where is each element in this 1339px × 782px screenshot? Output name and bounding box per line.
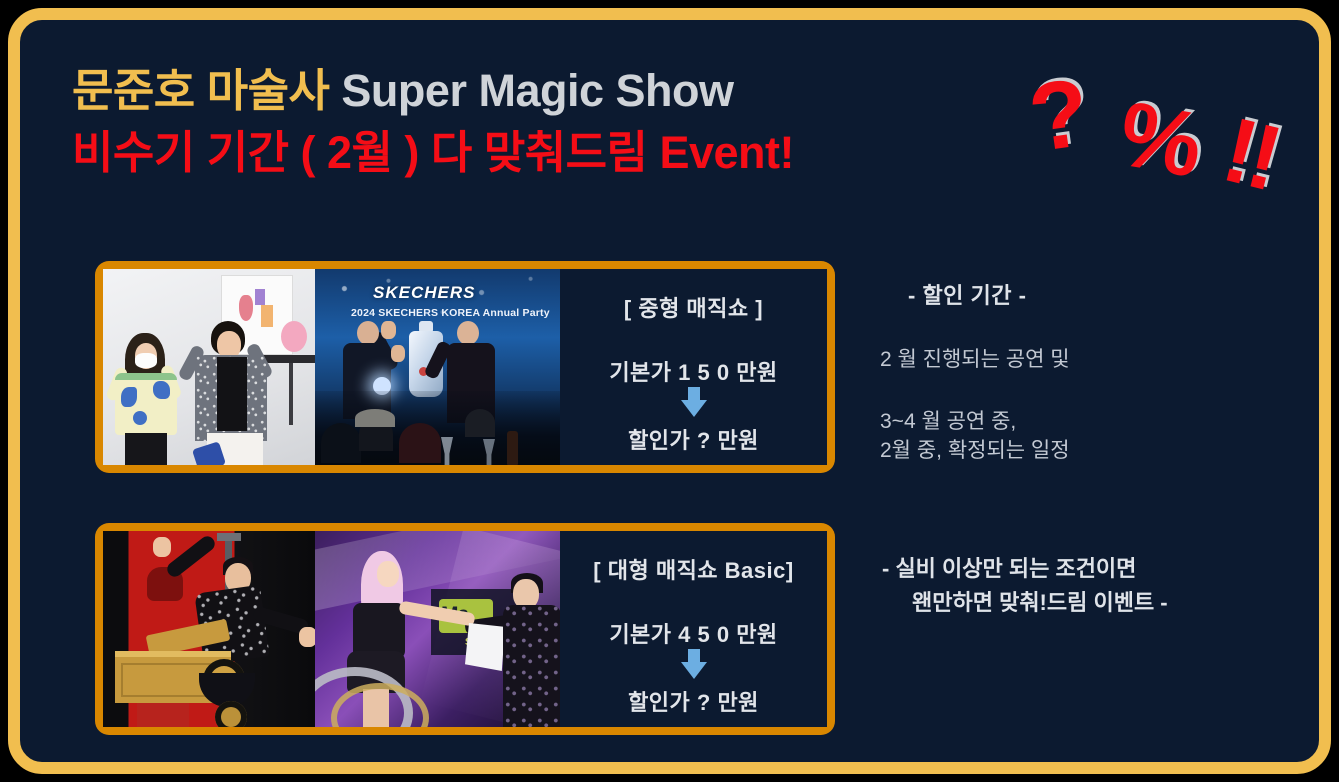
decorative-marks: ? % !! <box>1020 60 1290 215</box>
magician-with-child-studio-photo <box>103 269 315 465</box>
exclamation-marks-icon: !! <box>1215 103 1285 204</box>
purple-stage-assistant-photo: Ma SU <box>315 531 560 727</box>
original-price: 기본가 4 5 0 만원 <box>609 617 777 649</box>
discount-period-line-2: 3~4 월 공연 중, <box>880 408 1320 436</box>
title-korean-name: 문준호 마술사 <box>72 65 329 116</box>
discount-period-line-3: 2월 중, 확정되는 일정 <box>880 437 1320 465</box>
discount-period-line-1: 2 월 진행되는 공연 및 <box>880 346 1320 374</box>
skechers-banner-text: 2024 SKECHERS KOREA Annual Party <box>351 307 550 319</box>
event-condition-block: - 실비 이상만 되는 조건이면 왠만하면 맞춰!드림 이벤트 - <box>882 552 1332 620</box>
discount-period-heading: - 할인 기간 - <box>908 278 1320 310</box>
offer-card-inner: Ma SU [ 대형 매직쇼 Basic] 기본가 4 5 0 만원 할인가 <box>103 531 827 727</box>
question-mark-icon: ? <box>1024 64 1095 167</box>
discount-period-block: - 할인 기간 - 2 월 진행되는 공연 및 3~4 월 공연 중, 2월 중… <box>880 278 1320 465</box>
stage-illusion-red-backdrop-photo <box>103 531 315 727</box>
title-english: Super Magic Show <box>341 65 733 116</box>
subtitle-event-word: Event! <box>659 127 794 178</box>
subtitle-korean: 비수기 기간 ( 2월 ) 다 맞춰드림 <box>72 127 647 178</box>
event-condition-line-1: - 실비 이상만 되는 조건이면 <box>882 552 1332 586</box>
discount-price: 할인가 ? 만원 <box>628 685 759 717</box>
offer-card-inner: SKECHERS 2024 SKECHERS KOREA Annual Part… <box>103 269 827 465</box>
original-price: 기본가 1 5 0 만원 <box>609 355 777 387</box>
percent-mark-icon: % <box>1113 88 1210 193</box>
promo-poster: 문준호 마술사 Super Magic Show 비수기 기간 ( 2월 ) 다… <box>8 8 1331 774</box>
offer-card-medium-show[interactable]: SKECHERS 2024 SKECHERS KOREA Annual Part… <box>95 261 835 473</box>
down-arrow-icon <box>681 387 707 417</box>
skechers-korea-annual-party-photo: SKECHERS 2024 SKECHERS KOREA Annual Part… <box>315 269 560 465</box>
offer-card-text-panel: [ 대형 매직쇼 Basic] 기본가 4 5 0 만원 할인가 ? 만원 <box>560 531 827 727</box>
discount-price: 할인가 ? 만원 <box>628 423 759 455</box>
offer-card-large-show[interactable]: Ma SU [ 대형 매직쇼 Basic] 기본가 4 5 0 만원 할인가 <box>95 523 835 735</box>
event-condition-line-2: 왠만하면 맞춰!드림 이벤트 - <box>912 586 1332 620</box>
down-arrow-icon <box>681 649 707 679</box>
skechers-brand-text: SKECHERS <box>373 283 475 303</box>
offer-heading: [ 대형 매직쇼 Basic] <box>593 553 793 585</box>
offer-heading: [ 중형 매직쇼 ] <box>624 291 763 323</box>
offer-card-text-panel: [ 중형 매직쇼 ] 기본가 1 5 0 만원 할인가 ? 만원 <box>560 269 827 465</box>
